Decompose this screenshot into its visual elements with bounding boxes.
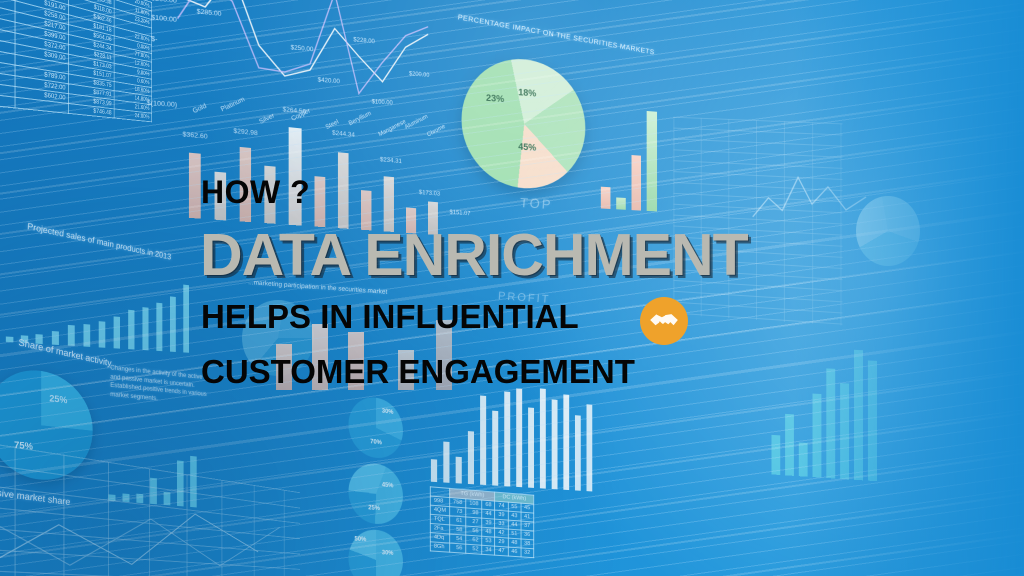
banner-canvas: $543.00$579.6120.00% ...ation$293.24$265… — [0, 0, 1024, 576]
handshake-icon — [640, 297, 688, 345]
handshake-glyph — [647, 304, 681, 338]
headline-line-3: HELPS IN INFLUENTIAL — [201, 300, 579, 333]
eyebrow-text: HOW ? — [201, 176, 310, 208]
page-title: DATA ENRICHMENT — [200, 226, 748, 285]
headline-line-4: CUSTOMER ENGAGEMENT — [201, 355, 635, 388]
headline-block: HOW ? DATA ENRICHMENT HELPS IN INFLUENTI… — [0, 0, 1024, 576]
